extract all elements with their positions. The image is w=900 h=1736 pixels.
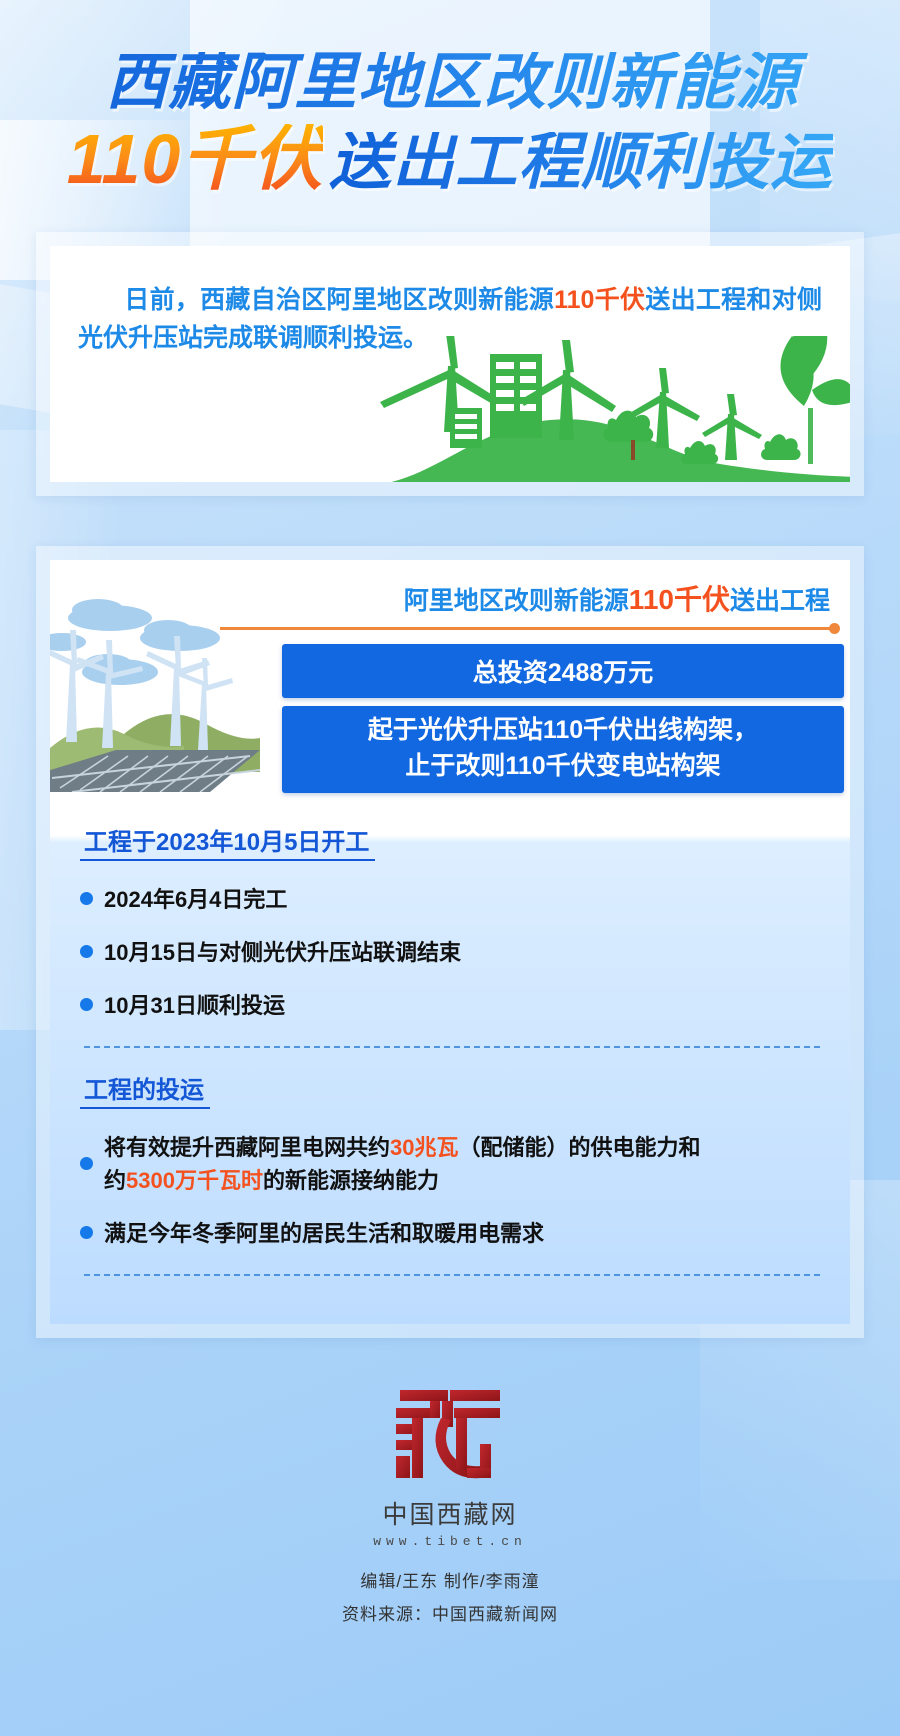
benefits-title-text: 工程的投运 [84,1077,204,1104]
benefit-1-part3: 的新能源接纳能力 [263,1168,439,1193]
route-line-2: 止于改则110千伏变电站构架 [282,749,844,785]
credit-editor: 编辑/王东 制作/李雨潼 [0,1567,900,1592]
list-item: 满足今年冬季阿里的居民生活和取暖用电需求 [80,1217,850,1250]
benefit-1-capacity: 30兆瓦 [390,1135,458,1160]
list-item: 将有效提升西藏阿里电网共约30兆瓦（配储能）的供电能力和约5300万千瓦时的新能… [80,1131,850,1197]
intro-voltage-highlight: 110千伏 [554,286,645,314]
details-heading: 阿里地区改则新能源110千伏送出工程 [220,578,844,618]
underline-dot-icon [829,623,840,634]
benefit-item-1: 将有效提升西藏阿里电网共约30兆瓦（配储能）的供电能力和约5300万千瓦时的新能… [104,1131,709,1197]
list-item: 2024年6月4日完工 [80,883,850,916]
headline-line-2-text: 送出工程顺利投运 [329,132,833,194]
headline-line-2: 110千伏 送出工程顺利投运 [0,124,900,194]
brand-name: 中国西藏网 [0,1495,900,1531]
intro-card: 日前，西藏自治区阿里地区改则新能源110千伏送出工程和对侧光伏升压站完成联调顺利… [36,232,864,496]
page-footer: 中国西藏网 www.tibet.cn 编辑/王东 制作/李雨潼 资料来源：中国西… [0,1384,900,1625]
timeline-item-2: 10月15日与对侧光伏升压站联调结束 [104,936,461,969]
intro-text-part1: 日前，西藏自治区阿里地区改则新能源 [124,286,554,314]
headline-voltage: 110千伏 [67,124,324,194]
bullet-dot-icon [80,892,93,905]
tibet-net-logo-icon [394,1384,506,1484]
credit-source: 资料来源：中国西藏新闻网 [0,1600,900,1625]
details-card: 阿里地区改则新能源110千伏送出工程 总投资2488万元 起于光伏升压站110千… [36,546,864,1338]
benefits-section-title: 工程的投运 [80,1070,210,1109]
bullet-dot-icon [80,998,93,1011]
details-heading-part1: 阿里地区改则新能源 [404,587,629,615]
timeline-title-text: 工程于2023年10月5日开工 [84,829,369,856]
green-wind-city-icon [360,336,850,482]
route-line-1: 起于光伏升压站110千伏出线构架， [282,713,844,749]
bullet-dot-icon [80,945,93,958]
benefit-1-energy: 5300万千瓦时 [126,1168,263,1193]
timeline-item-1: 2024年6月4日完工 [104,883,287,916]
details-heading-part2: 送出工程 [730,587,830,615]
section-divider-bottom [84,1274,820,1276]
section-divider [84,1046,820,1048]
list-item: 10月15日与对侧光伏升压站联调结束 [80,936,850,969]
bullet-dot-icon [80,1157,93,1170]
page-header: 西藏阿里地区改则新能源 110千伏 送出工程顺利投运 [0,0,900,194]
benefit-1-part1: 将有效提升西藏阿里电网共约 [104,1135,390,1160]
timeline-section-title: 工程于2023年10月5日开工 [80,822,375,861]
timeline-item-3: 10月31日顺利投运 [104,989,285,1022]
details-heading-voltage: 110千伏 [629,584,730,615]
brand-url: www.tibet.cn [0,1534,900,1549]
headline-line-1: 西藏阿里地区改则新能源 [4,52,900,114]
list-item: 10月31日顺利投运 [80,989,850,1022]
heading-underline [220,622,844,636]
route-bar: 起于光伏升压站110千伏出线构架， 止于改则110千伏变电站构架 [282,706,844,793]
bullet-dot-icon [80,1226,93,1239]
investment-bar: 总投资2488万元 [282,644,844,698]
benefit-item-2: 满足今年冬季阿里的居民生活和取暖用电需求 [104,1217,544,1250]
